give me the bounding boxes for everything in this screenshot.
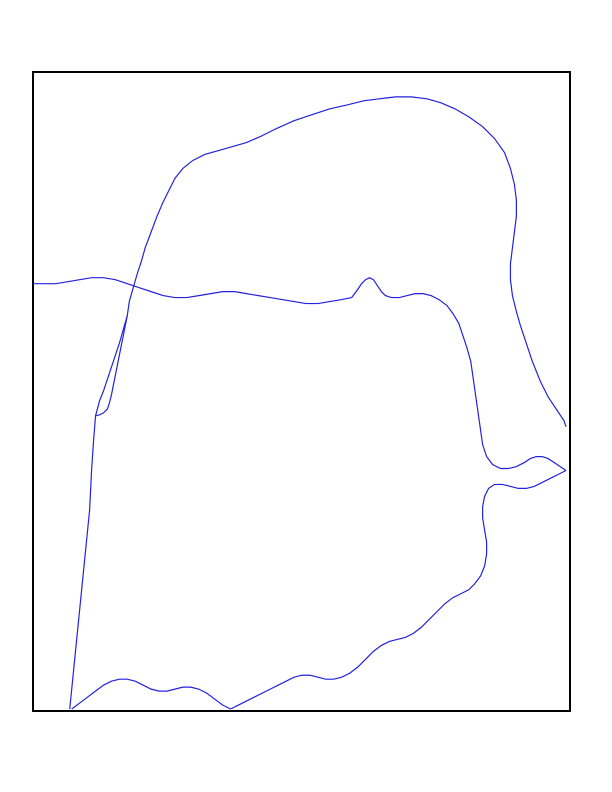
colorbar-swatches — [0, 734, 612, 758]
colorbar-legend — [0, 730, 612, 792]
country-border-outline — [34, 73, 569, 710]
map-plot-area — [32, 71, 571, 712]
